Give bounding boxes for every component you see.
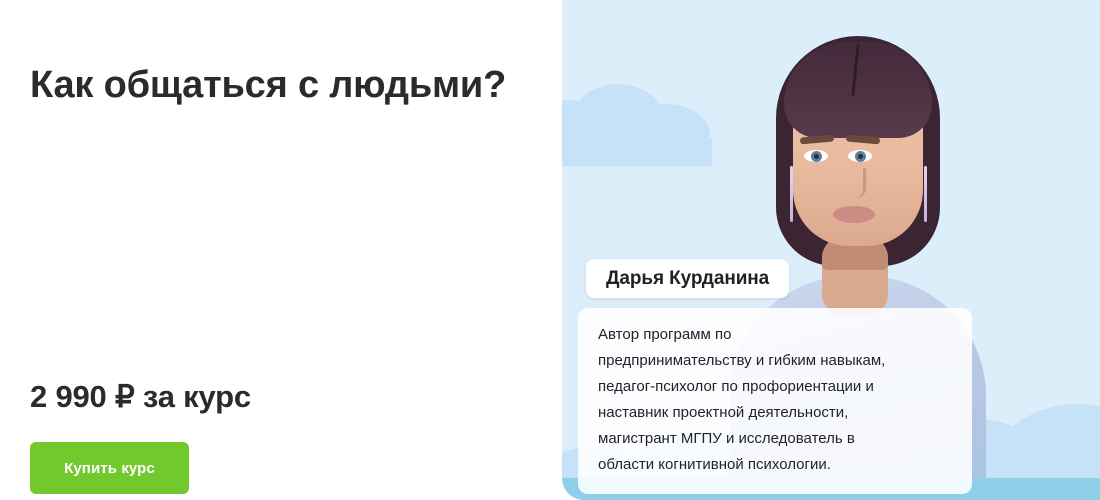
course-info-pane: Как общаться с людьми? 2 990 ₽ за курс К… [0,0,562,500]
page-title: Как общаться с людьми? [30,62,530,108]
portrait-earring-left [790,166,793,222]
portrait-iris-right [855,151,866,162]
portrait-eye-left [804,150,828,162]
cloud-decoration-icon [562,138,712,166]
portrait-earring-right [924,166,927,222]
instructor-name-badge: Дарья Курданина [586,259,789,298]
bio-line: области когнитивной психологии. [598,452,950,478]
bio-line: магистрант МГПУ и исследователь в [598,426,950,452]
buy-course-button[interactable]: Купить курс [30,442,189,494]
bio-line: наставник проектной деятельности, [598,400,950,426]
bio-line: предпринимательству и гибким навыкам, [598,348,950,374]
portrait-eye-right [848,150,872,162]
course-promo-card: Дарья Курданина Автор программ по предпр… [0,0,1100,500]
bio-line: педагог-психолог по профориентации и [598,374,950,400]
course-price-label: 2 990 ₽ за курс [30,378,251,416]
bio-line: Автор программ по [598,322,950,348]
portrait-iris-left [811,151,822,162]
portrait-nose [848,168,866,198]
instructor-bio-card: Автор программ по предпринимательству и … [578,308,972,494]
portrait-lips [833,206,875,223]
instructor-name-label: Дарья Курданина [606,268,769,290]
